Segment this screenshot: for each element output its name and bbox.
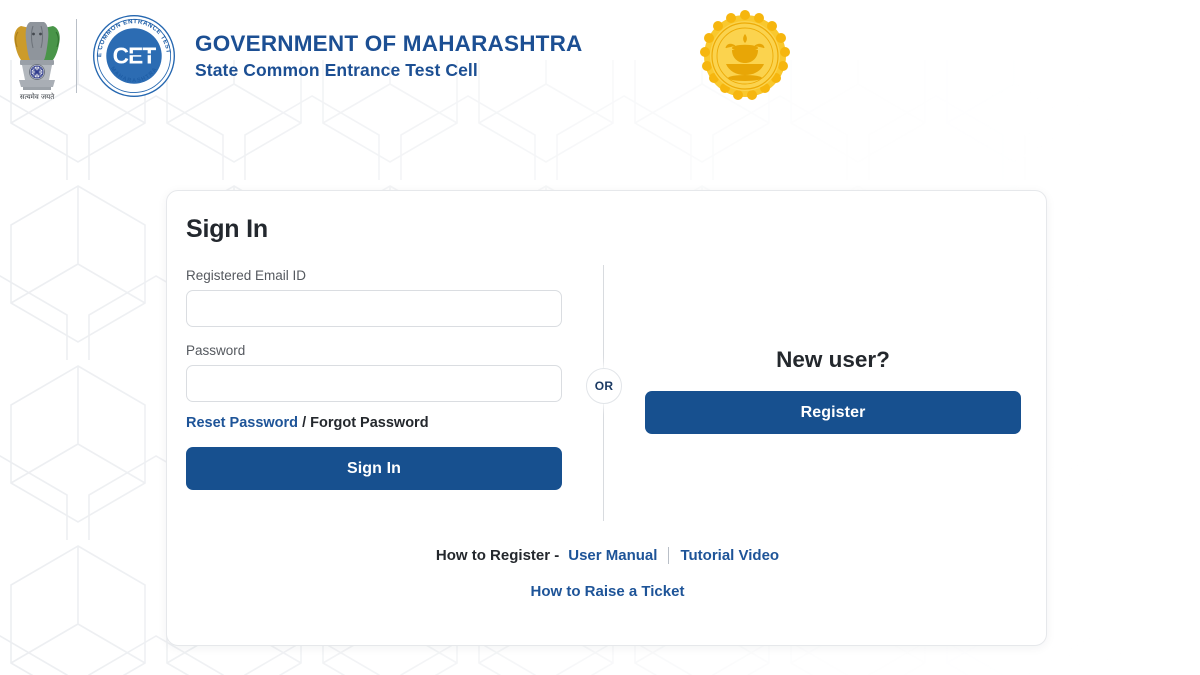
national-emblem-icon: सत्यमेव जयते: [6, 8, 68, 104]
password-input[interactable]: [186, 365, 562, 402]
email-field-label: Registered Email ID: [186, 268, 562, 283]
site-header: सत्यमेव जयते STATE COMMON ENTRANCE TEST …: [0, 0, 1200, 112]
how-to-register-row: How to Register - User Manual Tutorial V…: [167, 547, 1048, 564]
login-form: Registered Email ID Password Reset Passw…: [186, 268, 562, 490]
signin-card: Sign In Registered Email ID Password Res…: [166, 190, 1047, 646]
how-to-raise-ticket-row: How to Raise a Ticket: [167, 583, 1048, 600]
or-badge: OR: [586, 368, 622, 404]
how-to-register-label: How to Register -: [436, 547, 559, 564]
user-manual-link[interactable]: User Manual: [568, 547, 657, 564]
header-vertical-divider: [76, 19, 77, 93]
forgot-password-text: / Forgot Password: [302, 415, 429, 431]
tutorial-video-link[interactable]: Tutorial Video: [680, 547, 779, 564]
raise-ticket-link[interactable]: How to Raise a Ticket: [531, 583, 685, 600]
card-footer: How to Register - User Manual Tutorial V…: [167, 547, 1048, 600]
cet-logo-icon: STATE COMMON ENTRANCE TEST CELL MAHARASH…: [91, 13, 177, 99]
page-title: GOVERNMENT OF MAHARASHTRA: [195, 31, 583, 58]
svg-text:CET: CET: [113, 43, 157, 69]
register-button[interactable]: Register: [645, 391, 1021, 434]
password-field-label: Password: [186, 343, 562, 358]
reset-forgot-password-line: Reset Password / Forgot Password: [186, 415, 562, 431]
maharashtra-state-emblem-icon: [693, 4, 797, 108]
card-title: Sign In: [186, 215, 268, 244]
password-field-group: Password: [186, 343, 562, 402]
sign-in-button[interactable]: Sign In: [186, 447, 562, 490]
page-subtitle: State Common Entrance Test Cell: [195, 60, 583, 81]
email-field-group: Registered Email ID: [186, 268, 562, 327]
register-panel: New user? Register: [645, 347, 1021, 434]
registered-email-input[interactable]: [186, 290, 562, 327]
footer-link-separator: [668, 547, 669, 564]
emblem-motto-text: सत्यमेव जयते: [20, 92, 55, 101]
header-title-block: GOVERNMENT OF MAHARASHTRA State Common E…: [195, 31, 583, 81]
reset-password-link[interactable]: Reset Password: [186, 415, 298, 431]
new-user-heading: New user?: [645, 347, 1021, 373]
